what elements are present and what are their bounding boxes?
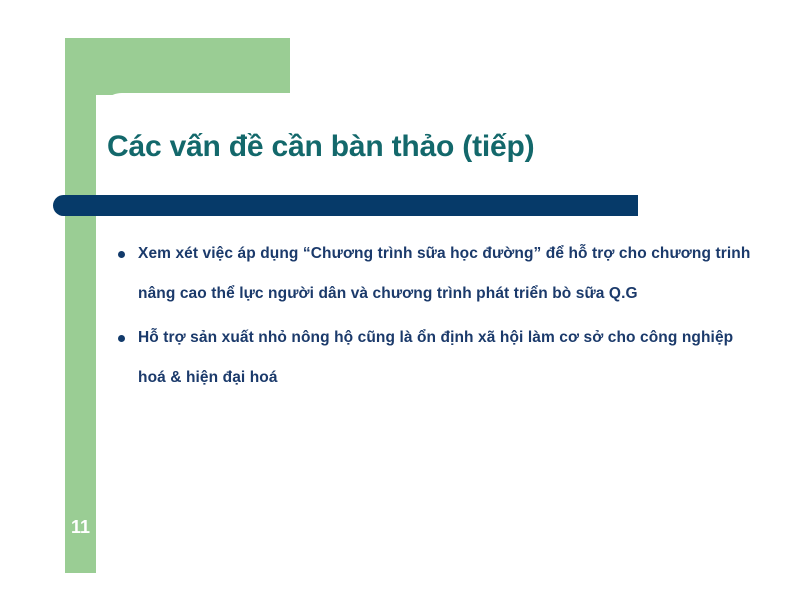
slide-bullet-list: Xem xét việc áp dụng “Chương trình sữa h… [112, 234, 762, 402]
bullet-dot-icon [118, 335, 125, 342]
green-top-block-decoration [65, 38, 290, 95]
list-item-text: Xem xét việc áp dụng “Chương trình sữa h… [138, 234, 762, 314]
list-item-text: Hỗ trợ sản xuất nhỏ nông hộ cũng là ổn đ… [138, 318, 762, 398]
slide-number: 11 [65, 515, 96, 539]
list-item: Hỗ trợ sản xuất nhỏ nông hộ cũng là ổn đ… [112, 318, 762, 398]
presentation-slide: Các vấn đề cần bàn thảo (tiếp) Xem xét v… [0, 0, 792, 612]
bullet-dot-icon [118, 251, 125, 258]
slide-title: Các vấn đề cần bàn thảo (tiếp) [107, 128, 747, 166]
title-underline-bar [53, 195, 638, 216]
green-sidebar-decoration [65, 38, 96, 573]
list-item: Xem xét việc áp dụng “Chương trình sữa h… [112, 234, 762, 314]
